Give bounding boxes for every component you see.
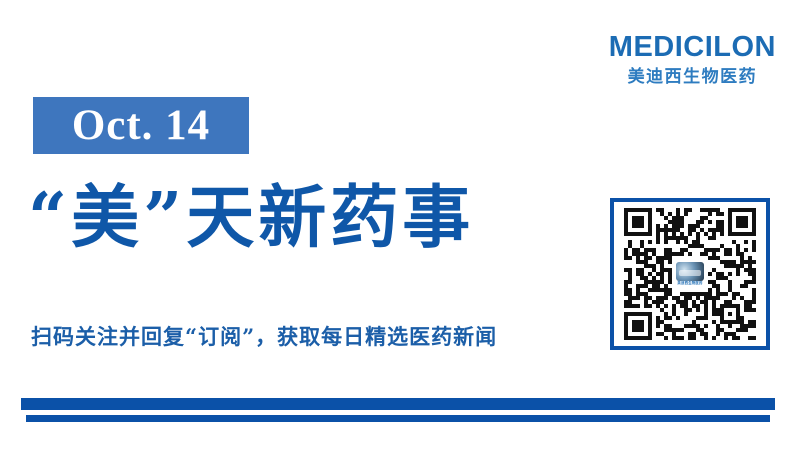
qr-code[interactable]: 美迪西生物医药: [610, 198, 770, 350]
subscribe-instruction: 扫码关注并回复“订阅”，获取每日精选医药新闻: [31, 326, 497, 347]
date-badge-label: Oct. 14: [72, 104, 210, 147]
date-badge: Oct. 14: [33, 97, 249, 154]
brand-wordmark: MEDICILON: [609, 33, 776, 62]
divider-thick: [21, 398, 775, 410]
brand-logo: MEDICILON 美迪西生物医药: [609, 33, 776, 85]
qr-code-inner: 美迪西生物医药: [624, 208, 756, 340]
brand-chinese-name: 美迪西生物医药: [609, 68, 776, 85]
poster-canvas: MEDICILON 美迪西生物医药 Oct. 14 “美”天新药事 扫码关注并回…: [0, 0, 800, 468]
qr-center-logo-image: [676, 262, 704, 281]
qr-center-logo: 美迪西生物医药: [673, 257, 707, 291]
page-title: “美”天新药事: [28, 184, 474, 252]
qr-center-logo-caption: 美迪西生物医药: [677, 282, 702, 285]
divider-thin: [26, 415, 770, 422]
